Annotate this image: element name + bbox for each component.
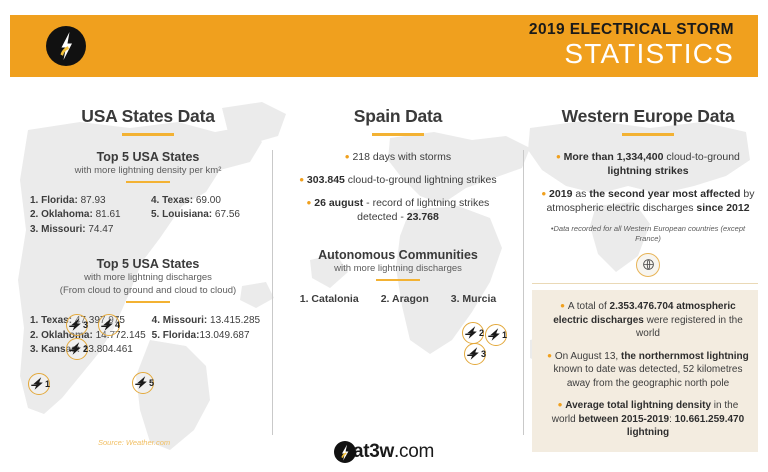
list-item: 4. Texas: 69.00 [151, 194, 266, 209]
bullet-text-run: 303.845 [307, 174, 345, 186]
lightning-marker-icon: 3 [464, 343, 490, 369]
list-item: 2. Oklahoma: 81.61 [30, 208, 145, 223]
list-item-name: Missouri: [163, 315, 207, 326]
list-item-value: 87.93 [81, 195, 106, 206]
column-divider-right [523, 150, 524, 435]
column-divider-left [272, 150, 273, 435]
column-spain-data: Spain Data •218 days with storms•303.845… [282, 106, 514, 305]
list-item: 5. Florida:13.049.687 [152, 329, 266, 344]
list-item-value: 69.00 [196, 195, 221, 206]
footer-brand-rest: .com [394, 441, 434, 462]
marker-label: 2 [479, 329, 484, 338]
usa-block1-subtitle: with more lightning density per km² [24, 165, 272, 177]
bullet-text-run: the second year most affected [589, 188, 740, 200]
bullet-text-run: the northernmost lightning [621, 351, 749, 362]
spain-block-subtitle: with more lightning discharges [282, 263, 514, 275]
bullet-text-run: lightning strikes [607, 165, 688, 177]
bullet-dot-icon: • [560, 298, 565, 313]
usa-block1-list-right: 4. Texas: 69.00 5. Louisiana: 67.56 [145, 194, 266, 238]
list-item: 2. Aragon [381, 293, 429, 305]
list-item-name: Missouri: [41, 224, 85, 235]
bullet-text-run: were registered in the world [636, 315, 743, 340]
lightning-marker-icon: 4 [98, 314, 124, 340]
list-item-rank: 3. [30, 224, 38, 235]
we-column-title: Western Europe Data [532, 106, 758, 127]
bullet-item: •218 days with storms [282, 150, 514, 164]
marker-label: 3 [83, 321, 88, 330]
list-item-value: 13.049.687 [199, 330, 249, 341]
list-item-rank: 3. [30, 344, 38, 355]
list-item: 1. Catalonia [300, 293, 359, 305]
list-item-name: Aragon [392, 293, 429, 305]
bullet-text-run: Average total lightning density [565, 400, 711, 411]
bullet-item: •303.845 cloud-to-ground lightning strik… [282, 173, 514, 187]
usa-block2-list: 1. Texas: 47.397.975 2. Oklahoma: 14.772… [24, 314, 272, 358]
list-item-rank: 3. [451, 293, 460, 305]
usa-block1-list-left: 1. Florida: 87.93 2. Oklahoma: 81.61 3. … [30, 194, 145, 238]
spain-block-title: Autonomous Communities [282, 248, 514, 262]
list-item: 3. Murcia [451, 293, 497, 305]
list-item-rank: 4. [152, 315, 160, 326]
we-footnote: •Data recorded for all Western European … [532, 224, 758, 244]
usa-column-title: USA States Data [24, 106, 272, 127]
usa-block2-list-right: 4. Missouri: 13.415.285 5. Florida:13.04… [146, 314, 266, 358]
usa-block2-subtitle: with more lightning discharges [24, 272, 272, 284]
lightning-bolt-logo-icon [334, 441, 356, 463]
list-item-value: 67.56 [215, 209, 240, 220]
globe-icon [636, 253, 660, 277]
bullet-item: •More than 1,334,400 cloud-to-ground lig… [532, 150, 758, 178]
bullet-text-run: since 2012 [696, 202, 749, 214]
header-banner: 2019 ELECTRICAL STORM STATISTICS [10, 15, 758, 77]
bullet-text-run: known to date was detected, 52 kilometre… [554, 364, 743, 389]
lightning-marker-icon: 5 [132, 372, 158, 398]
marker-label: 4 [115, 321, 120, 330]
bullet-text-run: 218 days with storms [352, 151, 451, 163]
list-item-rank: 4. [151, 195, 159, 206]
list-item-rank: 2. [381, 293, 390, 305]
bullet-dot-icon: • [345, 149, 350, 164]
world-stats-bullet-list: •A total of 2.353.476.704 atmospheric el… [542, 300, 754, 440]
bullet-item: •A total of 2.353.476.704 atmospheric el… [542, 300, 754, 341]
list-item-name: Louisiana: [162, 209, 212, 220]
marker-label: 3 [481, 350, 486, 359]
bullet-item: •On August 13, the northernmost lightnin… [542, 350, 754, 391]
globe-divider [532, 283, 758, 285]
bullet-text-run: 26 august [314, 197, 363, 209]
we-bullet-list: •More than 1,334,400 cloud-to-ground lig… [532, 150, 758, 215]
lightning-marker-icon: 3 [66, 314, 92, 340]
autonomous-communities-row: 1. Catalonia 2. Aragon 3. Murcia [282, 293, 514, 305]
usa-title-underline [122, 133, 174, 136]
bullet-text-run: More than 1,334,400 [564, 151, 664, 163]
bullet-dot-icon: • [547, 348, 552, 363]
marker-label: 1 [502, 331, 507, 340]
marker-label: 1 [45, 380, 50, 389]
list-item-rank: 2. [30, 209, 38, 220]
header-kicker: 2019 ELECTRICAL STORM [529, 20, 734, 40]
list-item-value: 74.47 [88, 224, 113, 235]
page-title: STATISTICS [529, 38, 734, 69]
spain-column-title: Spain Data [282, 106, 514, 127]
footer-brand-bold: at3w [353, 441, 394, 462]
list-item: 3. Missouri: 74.47 [30, 223, 145, 238]
lightning-marker-icon: 2 [66, 338, 92, 364]
list-item-rank: 1. [30, 195, 38, 206]
list-item-name: Texas: [162, 195, 193, 206]
lightning-marker-icon: 1 [28, 373, 54, 399]
list-item-value: 13.415.285 [210, 315, 260, 326]
usa-block2-title: Top 5 USA States [24, 257, 272, 271]
footer-brand-text: at3w.com [353, 441, 434, 463]
bullet-text-run: cloud-to-ground lightning strikes [345, 174, 497, 186]
bullet-text-run: as [572, 188, 589, 200]
list-item: 5. Louisiana: 67.56 [151, 208, 266, 223]
usa-block1-list: 1. Florida: 87.93 2. Oklahoma: 81.61 3. … [24, 194, 272, 238]
header-titles: 2019 ELECTRICAL STORM STATISTICS [529, 20, 734, 69]
infographic-page: USA States Data Top 5 USA States with mo… [10, 10, 758, 462]
bullet-text-run: A total of [568, 301, 610, 312]
bullet-text-run: between 2015-2019 [578, 414, 669, 425]
list-item-name: Catalonia [311, 293, 358, 305]
list-item-name: Oklahoma: [41, 209, 93, 220]
list-item: 4. Missouri: 13.415.285 [152, 314, 266, 329]
bullet-dot-icon: • [299, 172, 304, 187]
bullet-dot-icon: • [556, 149, 561, 164]
list-item-rank: 1. [300, 293, 309, 305]
usa-block2-underline [126, 301, 170, 303]
spain-title-underline [372, 133, 424, 136]
spain-bullet-list: •218 days with storms•303.845 cloud-to-g… [282, 150, 514, 224]
marker-label: 5 [149, 379, 154, 388]
list-item: 1. Florida: 87.93 [30, 194, 145, 209]
list-item-name: Florida: [41, 195, 78, 206]
bullet-dot-icon: • [541, 186, 546, 201]
bullet-text-run: cloud-to-ground [663, 151, 739, 163]
bullet-text-run: 2019 [549, 188, 572, 200]
spain-block-underline [376, 279, 420, 281]
world-stats-box: •A total of 2.353.476.704 atmospheric el… [532, 290, 758, 452]
column-usa-states: USA States Data Top 5 USA States with mo… [24, 106, 272, 358]
usa-block1-underline [126, 181, 170, 183]
bullet-dot-icon: • [307, 195, 312, 210]
marker-label: 2 [83, 345, 88, 354]
column-western-europe-data: Western Europe Data •More than 1,334,400… [532, 106, 758, 452]
list-item-name: Murcia [462, 293, 496, 305]
infographic-canvas: USA States Data Top 5 USA States with mo… [0, 0, 768, 472]
list-item-rank: 1. [30, 315, 38, 326]
list-item-rank: 5. [152, 330, 160, 341]
list-item-value: 81.61 [96, 209, 121, 220]
lightning-bolt-logo-icon [46, 26, 86, 66]
footer-brand: at3w.com [0, 432, 768, 472]
usa-block2-subtitle2: (From cloud to ground and cloud to cloud… [24, 285, 272, 297]
list-item-rank: 2. [30, 330, 38, 341]
bullet-dot-icon: • [558, 397, 563, 412]
bullet-item: •26 august - record of lightning strikes… [282, 196, 514, 224]
usa-block1-title: Top 5 USA States [24, 150, 272, 164]
list-item-name: Florida: [163, 330, 200, 341]
bullet-text-run: 23.768 [407, 211, 439, 223]
bullet-item: •2019 as the second year most affected b… [532, 187, 758, 215]
bullet-text-run: On August 13, [555, 351, 621, 362]
we-title-underline [622, 133, 674, 136]
globe-badge [532, 253, 758, 277]
list-item-rank: 5. [151, 209, 159, 220]
